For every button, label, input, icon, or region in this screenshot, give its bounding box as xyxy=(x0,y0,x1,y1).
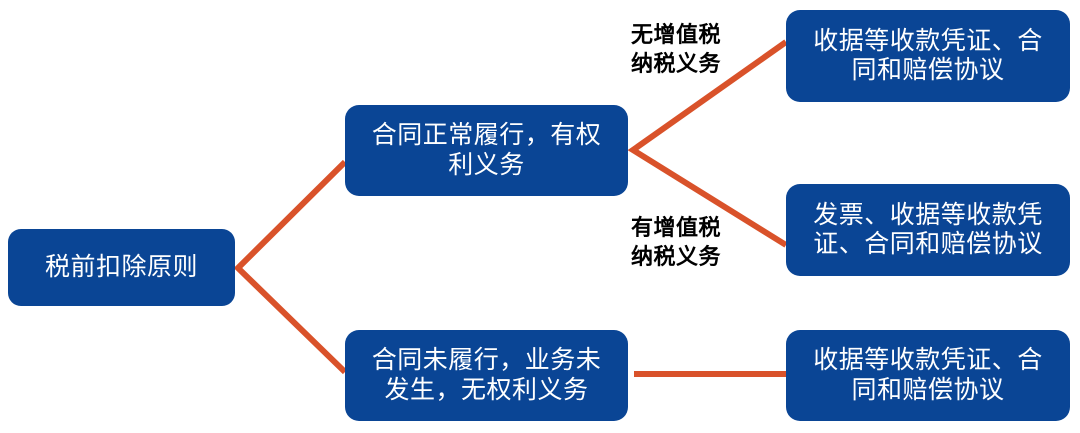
node-contract-performed-label: 合同正常履行，有权 利义务 xyxy=(362,121,612,180)
connector-root-branch xyxy=(238,162,345,372)
node-root[interactable]: 税前扣除原则 xyxy=(8,229,235,306)
node-contract-not-performed-label: 合同未履行，业务未 发生，无权利义务 xyxy=(362,346,612,405)
node-doc-not-performed[interactable]: 收据等收款凭证、合 同和赔偿协议 xyxy=(786,330,1070,421)
node-contract-performed[interactable]: 合同正常履行，有权 利义务 xyxy=(345,105,628,196)
edge-label-no-vat: 无增值税 纳税义务 xyxy=(631,20,743,79)
node-doc-with-vat-label: 发票、收据等收款凭 证、合同和赔偿协议 xyxy=(803,201,1053,260)
node-doc-no-vat[interactable]: 收据等收款凭证、合 同和赔偿协议 xyxy=(786,10,1070,102)
node-contract-not-performed[interactable]: 合同未履行，业务未 发生，无权利义务 xyxy=(345,330,628,421)
node-doc-with-vat[interactable]: 发票、收据等收款凭 证、合同和赔偿协议 xyxy=(786,184,1070,276)
node-root-label: 税前扣除原则 xyxy=(35,253,208,283)
diagram-canvas: 税前扣除原则 合同正常履行，有权 利义务 合同未履行，业务未 发生，无权利义务 … xyxy=(0,0,1080,433)
node-doc-no-vat-label: 收据等收款凭证、合 同和赔偿协议 xyxy=(803,27,1053,86)
node-doc-not-performed-label: 收据等收款凭证、合 同和赔偿协议 xyxy=(803,346,1053,405)
edge-label-with-vat: 有增值税 纳税义务 xyxy=(631,213,743,272)
